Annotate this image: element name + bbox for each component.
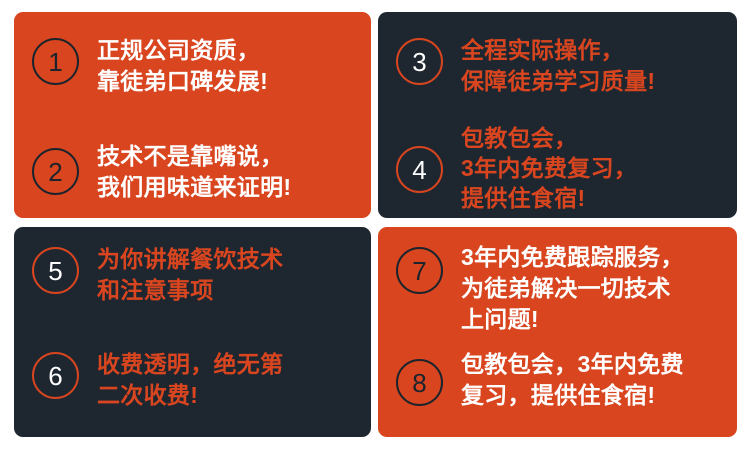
feature-item-3: 3 全程实际操作， 保障徒弟学习质量! [396,34,655,97]
feature-text-line: 3年内免费跟踪服务， [461,242,684,273]
feature-text-line: 上问题! [461,304,684,335]
feature-text-line: 正规公司资质， [97,35,268,66]
panel-bottom-right: 7 3年内免费跟踪服务， 为徒弟解决一切技术 上问题! 8 包教包会，3年内免费… [378,227,737,437]
number-badge-4: 4 [396,146,443,193]
feature-text-line: 3年内免费复习， [461,153,637,183]
number-badge-8: 8 [396,359,443,406]
feature-item-5: 5 为你讲解餐饮技术 和注意事项 [32,244,283,306]
feature-text-4: 包教包会， 3年内免费复习， 提供住食宿! [461,123,637,213]
feature-item-2: 2 技术不是靠嘴说， 我们用味道来证明! [32,130,291,203]
feature-item-8: 8 包教包会，3年内免费 复习，提供住食宿! [396,344,684,411]
feature-grid: 1 正规公司资质， 靠徒弟口碑发展! 2 技术不是靠嘴说， 我们用味道来证明! … [0,0,750,456]
panel-top-left: 1 正规公司资质， 靠徒弟口碑发展! 2 技术不是靠嘴说， 我们用味道来证明! [14,12,371,218]
feature-text-6: 收费透明，绝无第 二次收费! [97,349,283,411]
feature-item-6: 6 收费透明，绝无第 二次收费! [32,348,283,411]
feature-text-8: 包教包会，3年内免费 复习，提供住食宿! [461,349,684,411]
feature-text-line: 技术不是靠嘴说， [97,141,291,172]
number-badge-7: 7 [396,247,443,294]
feature-text-line: 和注意事项 [97,275,283,306]
feature-text-line: 二次收费! [97,380,283,411]
number-badge-5: 5 [32,247,79,294]
feature-item-4: 4 包教包会， 3年内免费复习， 提供住食宿! [396,117,637,213]
feature-text-1: 正规公司资质， 靠徒弟口碑发展! [97,35,268,97]
feature-text-line: 全程实际操作， [461,35,655,66]
feature-text-line: 保障徒弟学习质量! [461,66,655,97]
feature-item-1: 1 正规公司资质， 靠徒弟口碑发展! [32,34,268,97]
number-badge-2: 2 [32,148,79,195]
feature-text-line: 复习，提供住食宿! [461,380,684,411]
feature-item-7: 7 3年内免费跟踪服务， 为徒弟解决一切技术 上问题! [396,240,684,335]
panel-top-right: 3 全程实际操作， 保障徒弟学习质量! 4 包教包会， 3年内免费复习， 提供住… [378,12,737,218]
feature-text-line: 为你讲解餐饮技术 [97,244,283,275]
feature-text-line: 包教包会， [461,123,637,153]
feature-text-line: 为徒弟解决一切技术 [461,273,684,304]
feature-text-line: 包教包会，3年内免费 [461,349,684,380]
feature-text-line: 提供住食宿! [461,183,637,213]
feature-text-2: 技术不是靠嘴说， 我们用味道来证明! [97,141,291,203]
feature-text-line: 收费透明，绝无第 [97,349,283,380]
feature-text-line: 我们用味道来证明! [97,172,291,203]
number-badge-6: 6 [32,352,79,399]
feature-text-3: 全程实际操作， 保障徒弟学习质量! [461,35,655,97]
number-badge-3: 3 [396,38,443,85]
panel-bottom-left: 5 为你讲解餐饮技术 和注意事项 6 收费透明，绝无第 二次收费! [14,227,371,437]
number-badge-1: 1 [32,38,79,85]
feature-text-5: 为你讲解餐饮技术 和注意事项 [97,244,283,306]
feature-text-line: 靠徒弟口碑发展! [97,66,268,97]
feature-text-7: 3年内免费跟踪服务， 为徒弟解决一切技术 上问题! [461,242,684,335]
